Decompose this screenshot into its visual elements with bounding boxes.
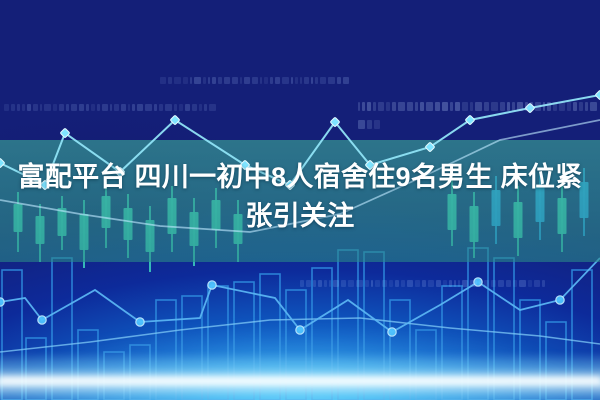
watermark-text-4 — [300, 275, 547, 293]
page-title: 富配平台 四川一初中8人宿舍住9名男生 床位紧张引关注 — [0, 158, 600, 236]
watermark-text-2 — [160, 72, 351, 90]
watermark-text-1 — [4, 99, 218, 117]
watermark-text-3 — [358, 98, 600, 134]
banner-image: 富配平台 四川一初中8人宿舍住9名男生 床位紧张引关注 — [0, 0, 600, 400]
